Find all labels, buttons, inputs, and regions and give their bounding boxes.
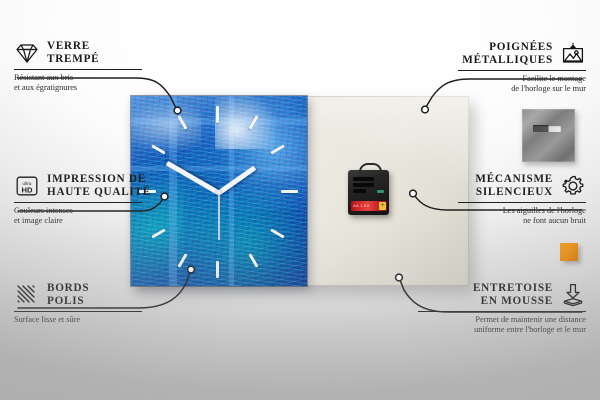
movement-vent [353,189,366,193]
callout-divider [14,69,142,70]
callout-subtitle: Surface lisse et sûre [14,315,154,325]
callout-title: IMPRESSION DEHAUTE QUALITÉ [47,173,151,198]
callout-header: BORDSPOLIS [14,282,154,308]
framed-picture-hanging-icon [560,41,586,67]
callout-title: MÉCANISMESILENCIEUX [475,173,553,198]
svg-text:HD: HD [22,185,33,194]
arrow-down-onto-pad-icon [560,282,586,308]
movement-label-chip [377,190,384,193]
callout-divider [418,311,586,312]
callout-bords-polis[interactable]: BORDSPOLIS Surface lisse et sûre [14,282,154,325]
callout-divider [458,202,586,203]
face-grid-line [131,166,307,171]
movement-hanging-loop [359,163,382,174]
callout-subtitle: Facilite le montagede l'horloge sur le m… [426,74,586,95]
callout-subtitle: Couleurs intenseset image claire [14,206,174,227]
product-photo: AA 1.5V + [131,96,469,286]
callout-title: ENTRETOISEEN MOUSSE [473,282,553,307]
callout-title: VERRETREMPÉ [47,40,99,65]
diamond-icon [14,40,40,66]
hanger-slot [533,125,561,132]
callout-header: VERRETREMPÉ [14,40,154,66]
aa-battery: AA 1.5V + [351,201,387,211]
gear-icon [560,173,586,199]
callout-header: ENTRETOISEEN MOUSSE [396,282,586,308]
hour-marker [281,190,298,193]
callout-subtitle: Les aiguilles de l'horlogene font aucun … [426,206,586,227]
battery-plus-terminal: + [379,202,386,210]
callout-header: ultra HD IMPRESSION DEHAUTE QUALITÉ [14,173,174,199]
callout-title: BORDSPOLIS [47,282,89,307]
callout-divider [458,70,586,71]
clock-movement-mechanism: AA 1.5V + [348,170,389,215]
callout-title: POIGNÉESMÉTALLIQUES [462,41,553,66]
callout-subtitle: Permet de maintenir une distanceuniforme… [396,315,586,336]
movement-vent [353,177,374,181]
hour-marker [216,106,219,123]
callout-subtitle: Résistant aux briset aux égratignures [14,73,154,94]
infographic-canvas: AA 1.5V + [0,0,600,400]
hour-marker [216,261,219,278]
callout-divider [14,202,142,203]
callout-header: POIGNÉESMÉTALLIQUES [426,41,586,67]
polished-edge-hatch-icon [14,282,40,308]
second-hand [218,192,220,240]
callout-verre-trempe[interactable]: VERRETREMPÉ Résistant aux briset aux égr… [14,40,154,94]
callout-impression-haute-qualite[interactable]: ultra HD IMPRESSION DEHAUTE QUALITÉ Coul… [14,173,174,227]
face-specular-glare [131,100,201,153]
hands-center-cap [216,190,221,195]
callout-mecanisme-silencieux[interactable]: MÉCANISMESILENCIEUX Les aiguilles de l'h… [426,173,586,227]
foam-spacer-pad [560,243,578,261]
callout-entretoise-en-mousse[interactable]: ENTRETOISEEN MOUSSE Permet de maintenir … [396,282,586,336]
metal-hanger-plate [522,109,575,162]
callout-divider [14,311,142,312]
movement-vent [353,183,374,187]
ultra-hd-badge-icon: ultra HD [14,173,40,199]
battery-label: AA 1.5V [353,203,370,208]
callout-poignees-metalliques[interactable]: POIGNÉESMÉTALLIQUES Facilite le montaged… [426,41,586,95]
callout-header: MÉCANISMESILENCIEUX [426,173,586,199]
